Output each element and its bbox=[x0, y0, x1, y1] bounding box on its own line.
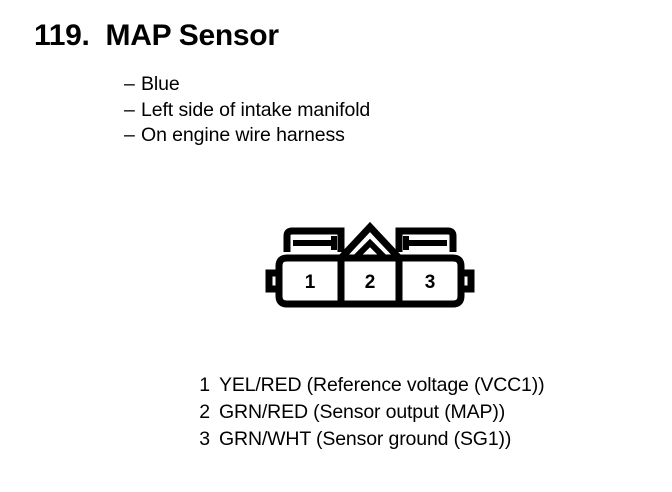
legend-pin-number: 2 bbox=[196, 399, 210, 426]
page-title: 119.MAP Sensor bbox=[34, 20, 279, 52]
list-item-label: Left side of intake manifold bbox=[141, 99, 370, 121]
list-item: –On engine wire harness bbox=[124, 123, 370, 149]
legend-pin-number: 3 bbox=[196, 426, 210, 453]
pin-legend: 1YEL/RED (Reference voltage (VCC1)) 2GRN… bbox=[196, 372, 544, 453]
diagram-page: 119.MAP Sensor –Blue –Left side of intak… bbox=[0, 0, 672, 492]
legend-row: 3GRN/WHT (Sensor ground (SG1)) bbox=[196, 426, 544, 453]
connector-pin-2: 2 bbox=[365, 272, 376, 293]
list-item: –Left side of intake manifold bbox=[124, 98, 370, 124]
legend-pin-description: GRN/RED (Sensor output (MAP)) bbox=[219, 401, 505, 423]
dash-icon: – bbox=[124, 72, 141, 98]
connector-diagram: 1 2 3 bbox=[255, 210, 485, 315]
connector-pin-1: 1 bbox=[305, 272, 316, 293]
legend-row: 2GRN/RED (Sensor output (MAP)) bbox=[196, 399, 544, 426]
dash-icon: – bbox=[124, 98, 141, 124]
list-item: –Blue bbox=[124, 72, 370, 98]
sensor-attribute-list: –Blue –Left side of intake manifold –On … bbox=[124, 72, 370, 149]
connector-pin-3: 3 bbox=[425, 272, 436, 293]
legend-pin-description: GRN/WHT (Sensor ground (SG1)) bbox=[219, 428, 511, 450]
title-number: 119. bbox=[34, 20, 90, 52]
dash-icon: – bbox=[124, 123, 141, 149]
legend-pin-description: YEL/RED (Reference voltage (VCC1)) bbox=[219, 374, 544, 396]
title-text: MAP Sensor bbox=[106, 19, 279, 52]
legend-pin-number: 1 bbox=[196, 372, 210, 399]
list-item-label: On engine wire harness bbox=[141, 124, 345, 146]
list-item-label: Blue bbox=[141, 73, 180, 95]
connector-svg: 1 2 3 bbox=[255, 210, 485, 315]
legend-row: 1YEL/RED (Reference voltage (VCC1)) bbox=[196, 372, 544, 399]
